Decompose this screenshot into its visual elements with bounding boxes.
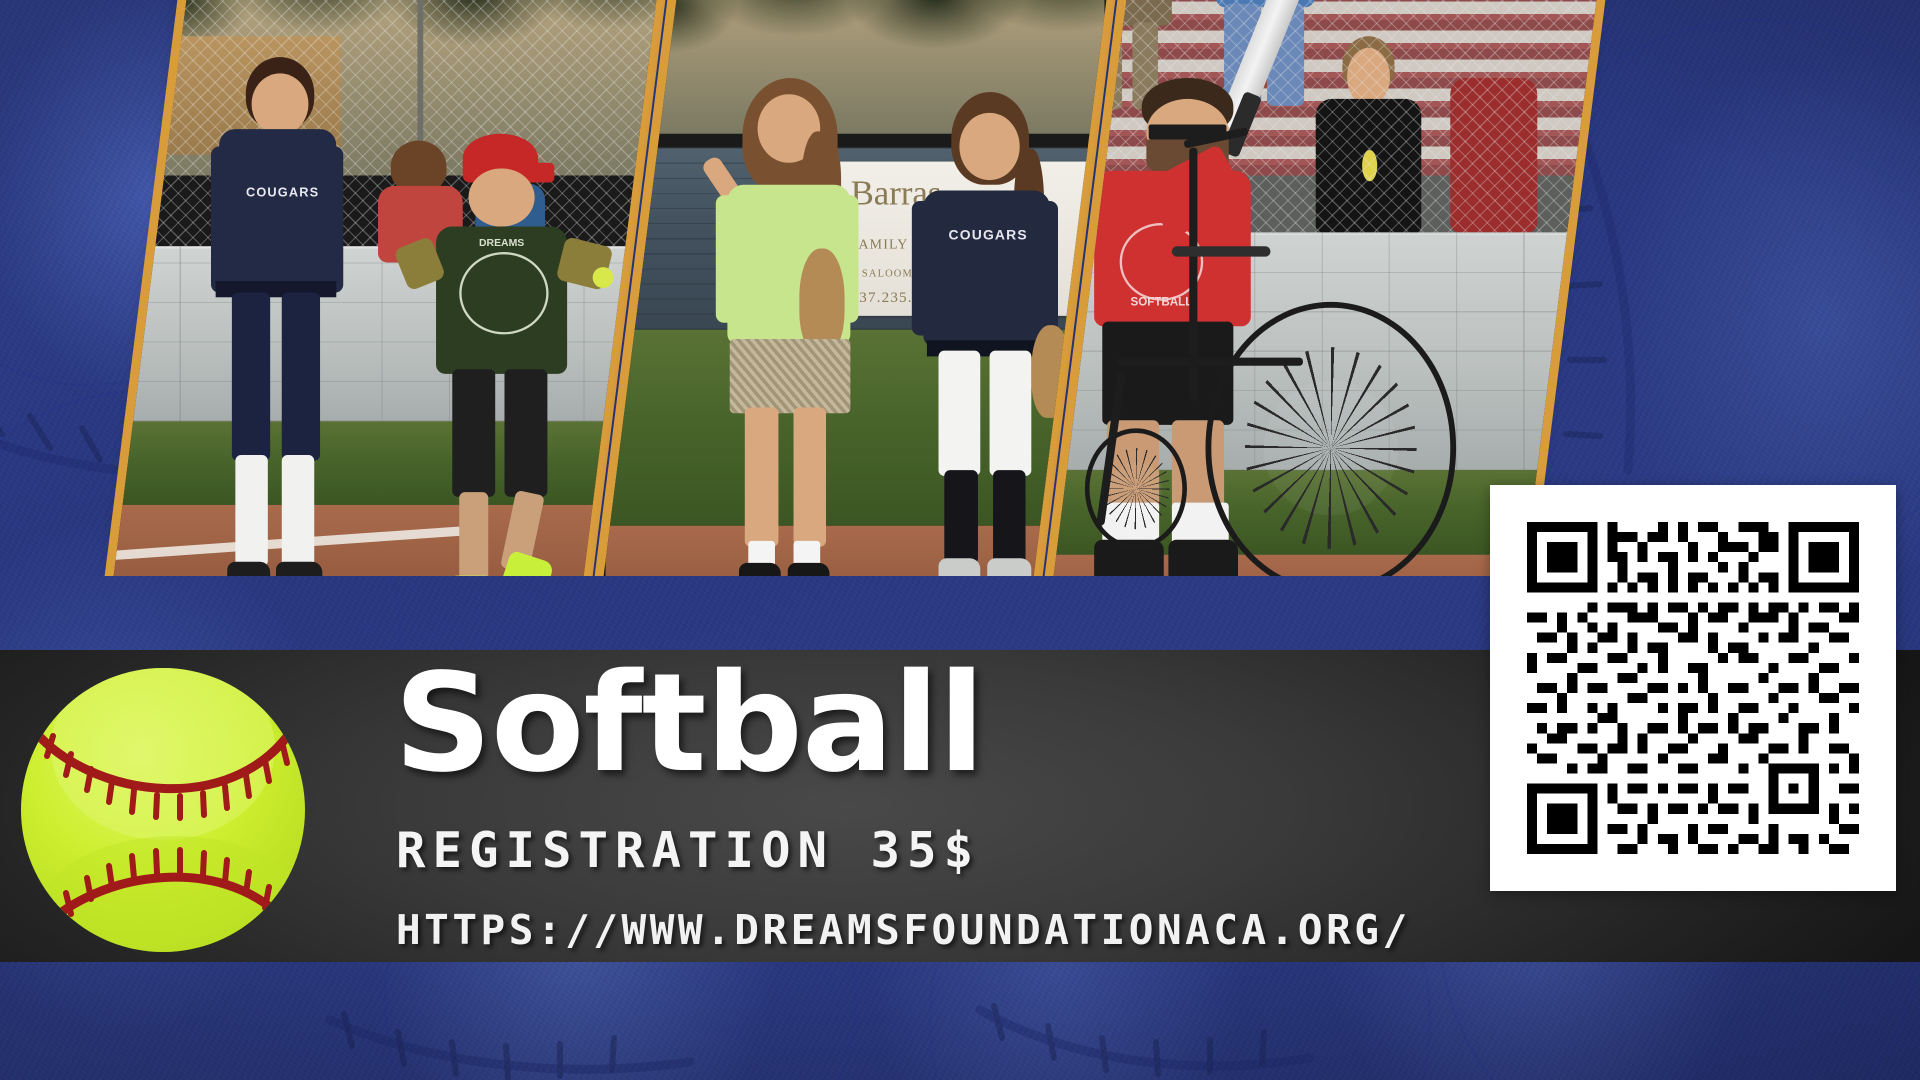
figure-coach: COUGARS [211,57,347,576]
figure-player-child: DREAMS [423,134,587,576]
qr-code-icon[interactable] [1527,522,1859,854]
softball-icon [7,652,319,964]
softball-registration-flyer: COUGARS [0,0,1920,1080]
registration-url[interactable]: HTTPS://WWW.DREAMSFOUNDATIONACA.ORG/ [396,906,1411,954]
photo-panel-center: Barras FAMILY DENTAL E SALOOM, BLDG 4 LA… [602,0,1108,576]
registration-price: REGISTRATION 35$ [396,822,980,879]
page-title: Softball [394,656,984,792]
figure-player-green-shirt [715,78,865,576]
figure-player-cougars: COUGARS [915,92,1065,576]
gold-divider-bottom [0,962,1920,1002]
photo-panel-left: COUGARS [112,0,658,576]
qr-code-card[interactable] [1490,485,1896,891]
